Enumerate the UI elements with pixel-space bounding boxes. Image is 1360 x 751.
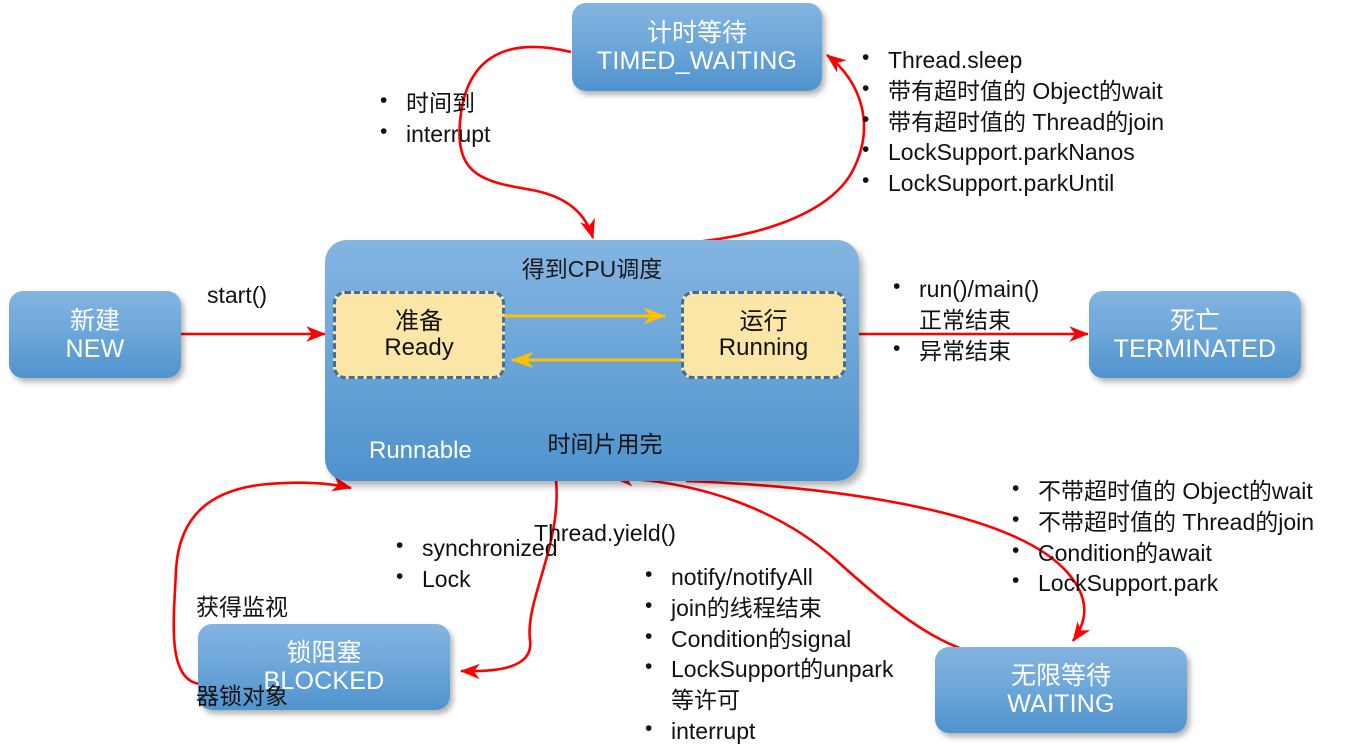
state-terminated-en: TERMINATED: [1114, 335, 1277, 363]
substate-ready-en: Ready: [384, 335, 453, 361]
list-waiting-enter: 不带超时值的 Object的wait 不带超时值的 Thread的join Co…: [1012, 476, 1314, 599]
thread-state-diagram: 得到CPU调度 Runnable 准备 Ready 运行 Running 时间片…: [0, 0, 1360, 751]
list-item: 不带超时值的 Object的wait: [1038, 476, 1314, 507]
state-new-cn: 新建: [70, 307, 120, 335]
list-item: 带有超时值的 Object的wait: [888, 76, 1164, 107]
list-item: join的线程结束: [671, 593, 893, 624]
list-terminate-reasons: run()/main() 正常结束 异常结束: [893, 274, 1039, 366]
state-new: 新建 NEW: [9, 291, 181, 378]
list-waiting-exit: notify/notifyAll join的线程结束 Condition的sig…: [645, 562, 893, 747]
list-item: run()/main(): [919, 274, 1039, 305]
state-blocked-cn: 锁阻塞: [286, 639, 361, 667]
list-item: Condition的signal: [671, 624, 893, 655]
list-item: 时间到: [406, 88, 490, 119]
substate-ready-cn: 准备: [395, 309, 443, 335]
substate-running-en: Running: [719, 335, 808, 361]
state-timed-waiting-cn: 计时等待: [647, 19, 747, 47]
list-item: 带有超时值的 Thread的join: [888, 107, 1164, 138]
monitor-lock-label: 获得监视 器锁对象: [196, 533, 288, 751]
state-waiting: 无限等待 WAITING: [935, 647, 1187, 733]
list-item: 异常结束: [919, 336, 1039, 367]
list-item: interrupt: [671, 716, 893, 747]
list-timed-waiting-enter: Thread.sleep 带有超时值的 Object的wait 带有超时值的 T…: [862, 45, 1164, 199]
list-item-sub: 正常结束: [919, 305, 1039, 336]
list-item: 不带超时值的 Thread的join: [1038, 507, 1314, 538]
state-new-en: NEW: [66, 335, 125, 363]
list-blocked-enter: synchronized Lock: [396, 533, 558, 595]
list-timed-waiting-exit: 时间到 interrupt: [380, 88, 490, 150]
list-item: notify/notifyAll: [671, 562, 893, 593]
list-item: interrupt: [406, 119, 490, 150]
substate-ready: 准备 Ready: [333, 291, 505, 379]
runnable-label: Runnable: [369, 437, 472, 465]
state-terminated: 死亡 TERMINATED: [1089, 291, 1301, 378]
list-item: LockSupport.park: [1038, 568, 1314, 599]
cpu-schedule-label: 得到CPU调度: [325, 250, 859, 284]
list-item: Condition的await: [1038, 538, 1314, 569]
monitor-lock-line1: 获得监视: [196, 593, 288, 623]
list-item-sub: 等许可: [671, 685, 893, 716]
substate-running: 运行 Running: [681, 291, 846, 379]
list-item: LockSupport.parkNanos: [888, 137, 1164, 168]
list-item: Lock: [422, 564, 558, 595]
state-terminated-cn: 死亡: [1170, 307, 1220, 335]
list-item: synchronized: [422, 533, 558, 564]
list-item: LockSupport的unpark: [671, 654, 893, 685]
state-timed-waiting: 计时等待 TIMED_WAITING: [572, 3, 822, 91]
monitor-lock-line2: 器锁对象: [196, 682, 288, 712]
list-item: Thread.sleep: [888, 45, 1164, 76]
state-waiting-en: WAITING: [1007, 690, 1114, 718]
substate-running-cn: 运行: [740, 309, 788, 335]
list-item: LockSupport.parkUntil: [888, 168, 1164, 199]
yield-label-line1: 时间片用完: [510, 430, 700, 460]
state-timed-waiting-en: TIMED_WAITING: [597, 47, 797, 75]
start-label: start(): [207, 281, 267, 311]
state-waiting-cn: 无限等待: [1011, 662, 1111, 690]
